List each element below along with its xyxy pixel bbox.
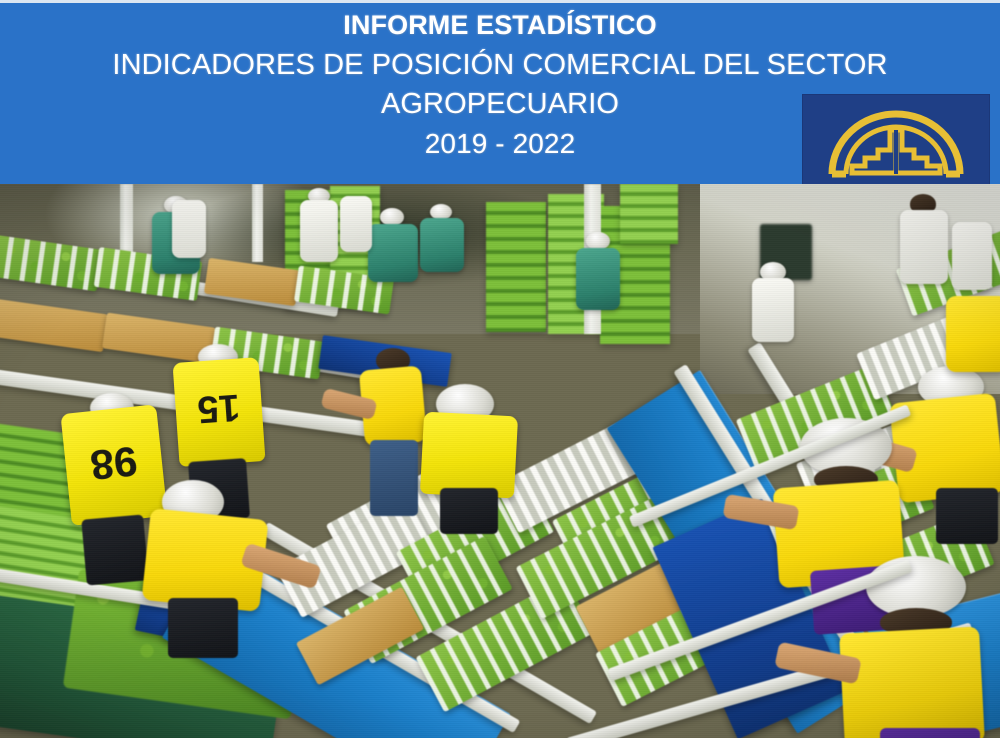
worker-lower-body <box>168 598 238 658</box>
report-cover-page: INFORME ESTADÍSTICO INDICADORES DE POSIC… <box>0 0 1000 738</box>
worker-jeans <box>370 440 418 516</box>
support-pillar <box>252 184 263 262</box>
worker-lower-body <box>936 488 998 544</box>
safety-vest <box>420 412 518 499</box>
title-line-4-period: 2019 - 2022 <box>425 129 576 159</box>
safety-vest: 98 <box>60 404 167 525</box>
crate-tower <box>486 202 546 332</box>
vest-number: 15 <box>174 383 263 432</box>
header-band: INFORME ESTADÍSTICO INDICADORES DE POSIC… <box>0 0 1000 184</box>
stepped-arch-logo-icon <box>802 94 990 184</box>
vest-number: 98 <box>64 434 164 492</box>
worker-lower-body <box>81 514 149 585</box>
title-line-2: INDICADORES DE POSICIÓN COMERCIAL DEL SE… <box>112 50 887 81</box>
worker-coat <box>752 278 794 342</box>
safety-vest: 15 <box>172 357 265 467</box>
worker-coat <box>172 200 206 258</box>
worker-coat <box>300 200 338 262</box>
worker-shirt <box>839 626 985 738</box>
worker-coat <box>340 196 372 252</box>
title-line-1: INFORME ESTADÍSTICO <box>343 11 656 40</box>
crate-tower <box>620 184 678 244</box>
worker-coat <box>900 210 948 284</box>
worker-uniform <box>420 218 464 272</box>
worker-uniform <box>576 248 620 310</box>
worker-lower-body <box>880 728 980 738</box>
cover-photograph: 98 15 <box>0 184 1000 738</box>
title-line-3: AGROPECUARIO <box>381 89 619 120</box>
worker-shirt <box>946 296 1000 372</box>
worker-uniform <box>368 224 418 282</box>
institutional-logo <box>802 94 990 184</box>
worker-coat <box>952 222 992 290</box>
worker-lower-body <box>440 488 498 534</box>
